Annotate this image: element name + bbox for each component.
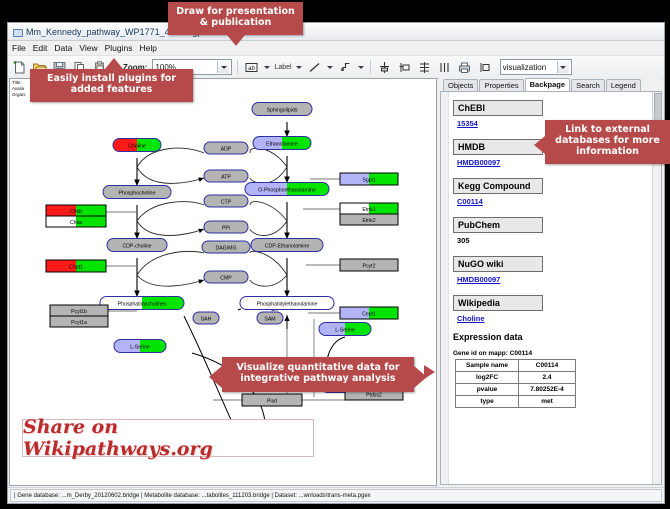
wikipedia-link[interactable]: Choline xyxy=(457,314,661,323)
expression-value: met xyxy=(519,396,576,408)
tab-objects[interactable]: Objects xyxy=(443,79,478,91)
gene-label: Sgpl1 xyxy=(362,177,375,183)
menu-item-edit[interactable]: Edit xyxy=(33,43,48,53)
metabolite-label: Phosphatidylcholines xyxy=(118,302,167,308)
metabolite-node[interactable]: SAH xyxy=(193,312,219,324)
metabolite-label: CDP-choline xyxy=(122,244,151,250)
interaction-dropdown-icon[interactable] xyxy=(357,61,365,74)
expression-key: log2FC xyxy=(456,372,519,384)
order-icon[interactable] xyxy=(476,59,493,76)
status-text: | Gene database: ...m_Derby_20120602.bri… xyxy=(10,489,662,502)
menu-item-view[interactable]: View xyxy=(79,43,97,53)
metabolite-node[interactable]: Phosphocholine xyxy=(103,186,171,199)
gene-node[interactable]: Pcyt1b xyxy=(50,305,108,316)
align-icon[interactable] xyxy=(376,59,393,76)
gene-label: Chka xyxy=(70,220,82,226)
gene-node[interactable]: Pcyt1a xyxy=(50,316,108,327)
tab-legend[interactable]: Legend xyxy=(606,79,641,91)
tab-search[interactable]: Search xyxy=(571,79,605,91)
callout-link-text: Link to external databases for more info… xyxy=(555,124,660,157)
expression-key: type xyxy=(456,396,519,408)
label-dropdown-icon[interactable] xyxy=(295,61,303,74)
gene-label: Pisd xyxy=(267,398,277,404)
metabolite-label: L-Serine xyxy=(335,328,355,334)
metabolite-node[interactable]: Choline xyxy=(113,139,161,152)
chebi-heading: ChEBI xyxy=(453,100,543,116)
callout-visualize-text: Visualize quantitative data for integrat… xyxy=(236,362,399,384)
gene-label: Chpt1 xyxy=(69,264,83,270)
metabolite-label: CDP-Ethanolamine xyxy=(265,244,310,250)
metabolite-label: Phosphatidylethanolamine xyxy=(257,302,318,308)
callout-link: Link to external databases for more info… xyxy=(545,120,670,164)
tab-properties[interactable]: Properties xyxy=(479,79,523,91)
status-bar: | Gene database: ...m_Derby_20120602.bri… xyxy=(8,487,664,503)
metabolite-label: O-Phosphoethanolamine xyxy=(258,188,316,194)
datanode-icon[interactable]: ab xyxy=(243,59,260,76)
metabolite-label: CMP xyxy=(220,276,232,282)
gene-node[interactable]: Pcyt2 xyxy=(340,259,398,271)
interaction-icon[interactable] xyxy=(337,59,354,76)
gene-node[interactable]: Chka xyxy=(46,216,106,227)
callout-plugins-text: Easily install plugins for added feature… xyxy=(47,73,176,95)
metabolite-label: Phosphocholine xyxy=(119,191,156,197)
menu-item-data[interactable]: Data xyxy=(54,43,72,53)
metabolite-label: PPi xyxy=(222,226,230,232)
kegg-heading: Kegg Compound xyxy=(453,178,543,194)
chevron-down-icon[interactable] xyxy=(557,61,569,73)
screenshot-root: Mm_Kennedy_pathway_WP1771_45176.gpml Fil… xyxy=(0,0,670,509)
callout-arrow-down-icon xyxy=(227,35,245,46)
menu-item-plugins[interactable]: Plugins xyxy=(105,43,133,53)
gene-id-label: Gene id on mapp: C00114 xyxy=(453,350,661,357)
callout-draw-text: Draw for presentation & publication xyxy=(176,6,295,28)
table-row: log2FC 2.4 xyxy=(456,372,576,384)
metabolite-node[interactable]: ATP xyxy=(204,170,248,182)
expression-key: pvalue xyxy=(456,384,519,396)
expression-data-title: Expression data xyxy=(453,332,661,342)
line-icon[interactable] xyxy=(306,59,323,76)
toolbar-separator xyxy=(237,60,238,74)
metabolite-label: SAH xyxy=(201,317,212,323)
wikipedia-heading: Wikipedia xyxy=(453,295,543,311)
hmdb-heading: HMDB xyxy=(453,139,543,155)
metabolite-label: L-Serine xyxy=(130,345,150,351)
callout-share: Share on Wikipathways.org xyxy=(22,419,314,457)
callout-share-text: Share on Wikipathways.org xyxy=(23,416,313,460)
callout-arrow-left-icon xyxy=(534,136,545,154)
metabolite-label: Ethanolamine xyxy=(266,142,298,148)
expression-value: 2.4 xyxy=(519,372,576,384)
gene-label: Chkb xyxy=(70,209,82,215)
distribute-icon[interactable] xyxy=(436,59,453,76)
gene-label: Etnk1 xyxy=(362,207,375,213)
metabolite-node[interactable]: CDP-choline xyxy=(107,239,167,252)
metabolite-label: Choline xyxy=(128,144,146,150)
gene-node[interactable]: Sgpl1 xyxy=(340,173,398,185)
gene-label: Cept1 xyxy=(362,311,376,317)
menu-item-help[interactable]: Help xyxy=(140,43,157,53)
gene-node[interactable]: Pisd xyxy=(242,394,302,406)
app-icon xyxy=(12,27,22,37)
metabolite-node[interactable]: ADP xyxy=(204,142,248,154)
svg-text:ab: ab xyxy=(249,65,256,71)
print-icon[interactable] xyxy=(456,59,473,76)
visualization-value: visualization xyxy=(503,63,557,72)
side-panel-tabs: Objects Properties Backpage Search Legen… xyxy=(439,78,663,91)
callout-plugins: Easily install plugins for added feature… xyxy=(30,69,193,102)
visualization-combobox[interactable]: visualization xyxy=(500,59,572,75)
expression-key: Sample name xyxy=(456,360,519,372)
metabolite-label: CTP xyxy=(221,200,232,206)
gene-node[interactable]: Etnk1 xyxy=(340,203,398,214)
metabolite-node[interactable]: Ethanolamine xyxy=(253,137,311,150)
line-dropdown-icon[interactable] xyxy=(326,61,334,74)
gene-node[interactable]: Chkb xyxy=(46,205,106,216)
pubchem-value: 305 xyxy=(457,236,661,245)
gene-label: Pcyt2 xyxy=(363,263,376,269)
gene-label: Etnk2 xyxy=(362,218,375,224)
metabolite-label: SAM xyxy=(264,317,275,323)
gene-node[interactable]: Chpt1 xyxy=(46,260,106,272)
window-titlebar: Mm_Kennedy_pathway_WP1771_45176.gpml xyxy=(8,23,664,41)
nugowiki-heading: NuGO wiki xyxy=(453,256,543,272)
menu-item-file[interactable]: File xyxy=(12,43,26,53)
pubchem-heading: PubChem xyxy=(453,217,543,233)
metabolite-node[interactable]: Phosphatidylcholines xyxy=(100,297,184,310)
metabolite-node[interactable]: CDP-Ethanolamine xyxy=(251,239,323,252)
table-row: pvalue 7.80252E-4 xyxy=(456,384,576,396)
metabolite-node[interactable]: L-Serine xyxy=(114,340,166,353)
gene-node[interactable]: Etnk2 xyxy=(340,214,398,225)
metabolite-label: Sphingolipids xyxy=(267,108,298,114)
panel-left-gutter xyxy=(441,92,449,484)
metabolite-node[interactable]: Phosphatidylethanolamine xyxy=(240,297,334,310)
expression-value: C00114 xyxy=(519,360,576,372)
metabolite-node[interactable]: CTP xyxy=(204,195,248,207)
new-file-icon[interactable] xyxy=(11,59,28,76)
callout-arrow-right-icon xyxy=(424,365,435,379)
menu-bar: File Edit Data View Plugins Help xyxy=(8,41,664,56)
expression-value: 7.80252E-4 xyxy=(519,384,576,396)
expression-table: Sample name C00114 log2FC 2.4 pvalue 7.8… xyxy=(455,359,576,408)
metabolite-label: ADP xyxy=(221,147,232,153)
gene-label: Ptdss2 xyxy=(366,392,382,398)
gene-label: Pcyt1b xyxy=(71,309,87,315)
callout-arrow-left-icon xyxy=(209,366,222,388)
metabolite-node[interactable]: CMP xyxy=(204,271,248,283)
group-icon[interactable] xyxy=(396,59,413,76)
gene-label: Pcyt1a xyxy=(71,320,87,326)
callout-draw: Draw for presentation & publication xyxy=(168,2,303,35)
table-row: type met xyxy=(456,396,576,408)
datanode-dropdown-icon[interactable] xyxy=(263,61,271,74)
toolbar-separator xyxy=(370,60,371,74)
callout-visualize: Visualize quantitative data for integrat… xyxy=(222,357,414,392)
table-row: Sample name C00114 xyxy=(456,360,576,372)
metabolite-node[interactable]: Sphingolipids xyxy=(252,103,312,116)
metabolite-label: DAG/MG xyxy=(215,246,236,252)
metabolite-node[interactable]: DAG/MG xyxy=(202,241,250,253)
chevron-down-icon[interactable] xyxy=(217,61,229,73)
metabolite-label: ATP xyxy=(221,175,231,181)
callout-arrow-up-icon xyxy=(105,58,123,69)
kegg-link[interactable]: C00114 xyxy=(457,197,661,206)
gene-node[interactable]: Cept1 xyxy=(340,307,398,319)
metabolite-node[interactable]: SAM xyxy=(257,312,283,324)
nugowiki-link[interactable]: HMDB00097 xyxy=(457,275,661,284)
metabolite-node[interactable]: O-Phosphoethanolamine xyxy=(245,183,329,196)
label-tool-label: Label xyxy=(274,64,291,71)
tab-backpage[interactable]: Backpage xyxy=(525,78,570,91)
metabolite-node[interactable]: L-Serine xyxy=(319,323,371,336)
metabolite-node[interactable]: PPi xyxy=(204,221,248,233)
stack-icon[interactable] xyxy=(416,59,433,76)
